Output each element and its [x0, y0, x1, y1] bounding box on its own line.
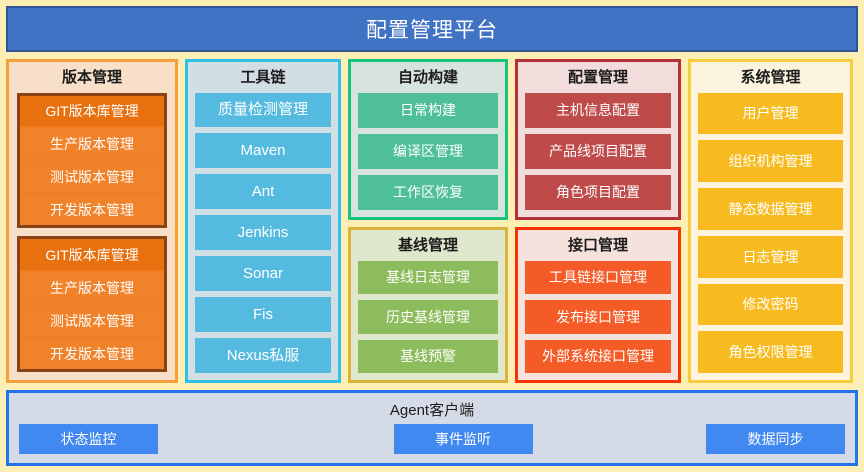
agent-client-title: Agent客户端 — [19, 397, 845, 424]
api-item-release[interactable]: 发布接口管理 — [525, 300, 671, 334]
agent-button-data-sync[interactable]: 数据同步 — [706, 424, 845, 454]
tool-chain-item-quality[interactable]: 质量检测管理 — [195, 93, 331, 128]
panel-body-tool-chain: 质量检测管理 Maven Ant Jenkins Sonar Fis Nexus… — [195, 93, 331, 374]
auto-build-item-workspace-restore[interactable]: 工作区恢复 — [358, 175, 498, 210]
panel-system-management: 系统管理 用户管理 组织机构管理 静态数据管理 日志管理 修改密码 角色权限管理 — [688, 59, 853, 383]
agent-button-event-listener[interactable]: 事件监听 — [394, 424, 533, 454]
api-item-external-system[interactable]: 外部系统接口管理 — [525, 340, 671, 374]
panel-config-management: 配置管理 主机信息配置 产品线项目配置 角色项目配置 — [515, 59, 681, 220]
version-group-2-header[interactable]: GIT版本库管理 — [20, 239, 164, 270]
agent-client-bar: Agent客户端 状态监控 事件监听 数据同步 — [6, 390, 858, 466]
baseline-item-alert[interactable]: 基线预警 — [358, 340, 498, 374]
panel-baseline-management: 基线管理 基线日志管理 历史基线管理 基线预警 — [348, 227, 508, 383]
system-item-change-password[interactable]: 修改密码 — [698, 284, 843, 326]
panel-api-management: 接口管理 工具链接口管理 发布接口管理 外部系统接口管理 — [515, 227, 681, 383]
api-item-tool-chain[interactable]: 工具链接口管理 — [525, 261, 671, 295]
auto-build-item-compile-zone[interactable]: 编译区管理 — [358, 134, 498, 169]
columns-container: 版本管理 GIT版本库管理 生产版本管理 测试版本管理 开发版本管理 GIT版本… — [6, 59, 858, 383]
system-item-user[interactable]: 用户管理 — [698, 93, 843, 135]
tool-chain-item-ant[interactable]: Ant — [195, 174, 331, 209]
version-group-1-item-prod[interactable]: 生产版本管理 — [20, 128, 164, 159]
version-group-2: GIT版本库管理 生产版本管理 测试版本管理 开发版本管理 — [17, 236, 167, 372]
config-item-role-project[interactable]: 角色项目配置 — [525, 175, 671, 210]
column-system-management: 系统管理 用户管理 组织机构管理 静态数据管理 日志管理 修改密码 角色权限管理 — [688, 59, 853, 383]
system-item-role-permission[interactable]: 角色权限管理 — [698, 331, 843, 373]
tool-chain-item-fis[interactable]: Fis — [195, 297, 331, 332]
tool-chain-item-nexus[interactable]: Nexus私服 — [195, 338, 331, 373]
panel-title-baseline-management: 基线管理 — [358, 235, 498, 261]
config-item-host-info[interactable]: 主机信息配置 — [525, 93, 671, 128]
panel-title-tool-chain: 工具链 — [195, 67, 331, 93]
panel-title-api-management: 接口管理 — [525, 235, 671, 261]
version-group-1-item-test[interactable]: 测试版本管理 — [20, 161, 164, 192]
panel-title-auto-build: 自动构建 — [358, 67, 498, 93]
panel-title-system-management: 系统管理 — [698, 67, 843, 93]
panel-body-system-management: 用户管理 组织机构管理 静态数据管理 日志管理 修改密码 角色权限管理 — [698, 93, 843, 374]
panel-title-config-management: 配置管理 — [525, 67, 671, 93]
baseline-item-history[interactable]: 历史基线管理 — [358, 300, 498, 334]
version-group-2-item-dev[interactable]: 开发版本管理 — [20, 338, 164, 369]
config-item-product-line-project[interactable]: 产品线项目配置 — [525, 134, 671, 169]
column-config-api: 配置管理 主机信息配置 产品线项目配置 角色项目配置 接口管理 工具链接口管理 … — [515, 59, 681, 383]
panel-version-management: 版本管理 GIT版本库管理 生产版本管理 测试版本管理 开发版本管理 GIT版本… — [6, 59, 178, 383]
system-item-organization[interactable]: 组织机构管理 — [698, 140, 843, 182]
baseline-item-log[interactable]: 基线日志管理 — [358, 261, 498, 295]
panel-body-version-management: GIT版本库管理 生产版本管理 测试版本管理 开发版本管理 GIT版本库管理 生… — [17, 93, 167, 373]
version-group-2-item-prod[interactable]: 生产版本管理 — [20, 272, 164, 303]
version-group-1-item-dev[interactable]: 开发版本管理 — [20, 194, 164, 225]
panel-body-config-management: 主机信息配置 产品线项目配置 角色项目配置 — [525, 93, 671, 211]
panel-body-auto-build: 日常构建 编译区管理 工作区恢复 — [358, 93, 498, 211]
panel-title-version-management: 版本管理 — [17, 67, 167, 93]
tool-chain-item-jenkins[interactable]: Jenkins — [195, 215, 331, 250]
agent-client-buttons: 状态监控 事件监听 数据同步 — [19, 424, 845, 454]
version-group-1-header[interactable]: GIT版本库管理 — [20, 96, 164, 127]
agent-button-status-monitor[interactable]: 状态监控 — [19, 424, 158, 454]
page-title: 配置管理平台 — [366, 14, 498, 44]
panel-auto-build: 自动构建 日常构建 编译区管理 工作区恢复 — [348, 59, 508, 220]
diagram-root: 配置管理平台 版本管理 GIT版本库管理 生产版本管理 测试版本管理 开发版本管… — [0, 0, 864, 472]
column-version-management: 版本管理 GIT版本库管理 生产版本管理 测试版本管理 开发版本管理 GIT版本… — [6, 59, 178, 383]
tool-chain-item-maven[interactable]: Maven — [195, 133, 331, 168]
auto-build-item-daily[interactable]: 日常构建 — [358, 93, 498, 128]
column-tool-chain: 工具链 质量检测管理 Maven Ant Jenkins Sonar Fis N… — [185, 59, 341, 383]
version-group-1: GIT版本库管理 生产版本管理 测试版本管理 开发版本管理 — [17, 93, 167, 229]
panel-tool-chain: 工具链 质量检测管理 Maven Ant Jenkins Sonar Fis N… — [185, 59, 341, 383]
panel-body-baseline-management: 基线日志管理 历史基线管理 基线预警 — [358, 261, 498, 374]
system-item-static-data[interactable]: 静态数据管理 — [698, 188, 843, 230]
tool-chain-item-sonar[interactable]: Sonar — [195, 256, 331, 291]
panel-body-api-management: 工具链接口管理 发布接口管理 外部系统接口管理 — [525, 261, 671, 374]
column-build-baseline: 自动构建 日常构建 编译区管理 工作区恢复 基线管理 基线日志管理 历史基线管理… — [348, 59, 508, 383]
system-item-log[interactable]: 日志管理 — [698, 236, 843, 278]
version-group-2-item-test[interactable]: 测试版本管理 — [20, 305, 164, 336]
platform-title-bar: 配置管理平台 — [6, 6, 858, 52]
